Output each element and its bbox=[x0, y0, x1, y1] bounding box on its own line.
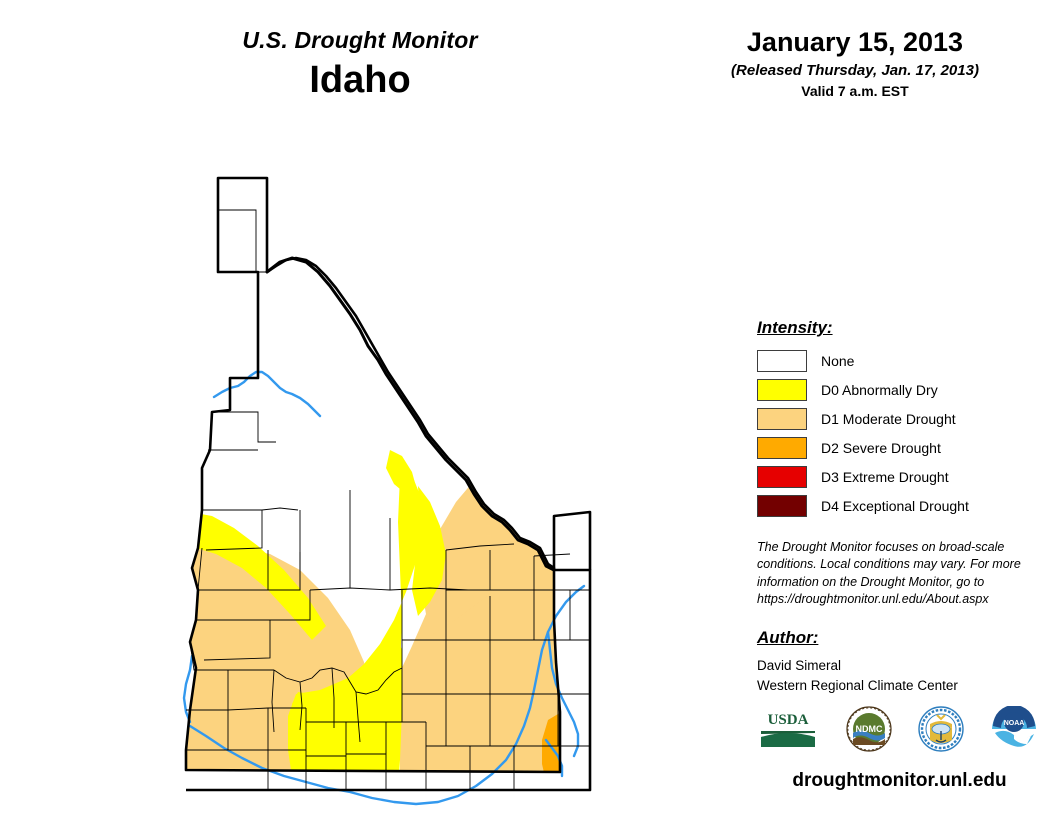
legend-item-d4: D4 Exceptional Drought bbox=[757, 491, 1037, 520]
usda-logo: USDA bbox=[757, 707, 819, 756]
state-title: Idaho bbox=[150, 59, 570, 103]
legend-item-d1: D1 Moderate Drought bbox=[757, 404, 1037, 433]
program-title: U.S. Drought Monitor bbox=[150, 28, 570, 53]
map-valid-time: Valid 7 a.m. EST bbox=[660, 83, 1050, 99]
legend-title: Intensity: bbox=[757, 318, 1037, 338]
author-block: Author: David Simeral Western Regional C… bbox=[757, 628, 1037, 695]
legend-item-d3: D3 Extreme Drought bbox=[757, 462, 1037, 491]
legend-label-d0: D0 Abnormally Dry bbox=[821, 382, 938, 398]
svg-text:USDA: USDA bbox=[768, 712, 809, 728]
svg-text:NDMC: NDMC bbox=[855, 724, 882, 734]
legend-item-d2: D2 Severe Drought bbox=[757, 433, 1037, 462]
legend-item-none: None bbox=[757, 346, 1037, 375]
usdc-seal-logo bbox=[918, 706, 964, 757]
legend-item-d0: D0 Abnormally Dry bbox=[757, 375, 1037, 404]
noaa-logo: NOAA bbox=[991, 706, 1037, 757]
legend-swatch-d2 bbox=[757, 437, 807, 459]
legend-label-d2: D2 Severe Drought bbox=[821, 440, 941, 456]
footer-url: droughtmonitor.unl.edu bbox=[757, 770, 1042, 792]
map-date: January 15, 2013 bbox=[660, 28, 1050, 58]
map-released-date: (Released Thursday, Jan. 17, 2013) bbox=[660, 62, 1050, 79]
author-affiliation: Western Regional Climate Center bbox=[757, 676, 1037, 696]
disclaimer-text: The Drought Monitor focuses on broad-sca… bbox=[757, 539, 1022, 608]
map-region-d2 bbox=[542, 712, 590, 790]
map-header-right: January 15, 2013 (Released Thursday, Jan… bbox=[660, 28, 1050, 99]
author-heading: Author: bbox=[757, 628, 1037, 648]
author-name: David Simeral bbox=[757, 656, 1037, 676]
legend-label-none: None bbox=[821, 353, 854, 369]
legend-label-d4: D4 Exceptional Drought bbox=[821, 498, 969, 514]
map-header-left: U.S. Drought Monitor Idaho bbox=[150, 28, 570, 103]
intensity-legend: Intensity: None D0 Abnormally Dry D1 Mod… bbox=[757, 318, 1037, 520]
legend-swatch-d4 bbox=[757, 495, 807, 517]
svg-text:NOAA: NOAA bbox=[1004, 720, 1025, 727]
legend-swatch-d3 bbox=[757, 466, 807, 488]
legend-swatch-d1 bbox=[757, 408, 807, 430]
legend-label-d1: D1 Moderate Drought bbox=[821, 411, 956, 427]
partner-logos: USDA NDMC bbox=[757, 703, 1037, 759]
legend-swatch-none bbox=[757, 350, 807, 372]
legend-label-d3: D3 Extreme Drought bbox=[821, 469, 949, 485]
idaho-drought-map bbox=[150, 150, 620, 810]
ndmc-logo: NDMC bbox=[846, 706, 892, 757]
legend-swatch-d0 bbox=[757, 379, 807, 401]
